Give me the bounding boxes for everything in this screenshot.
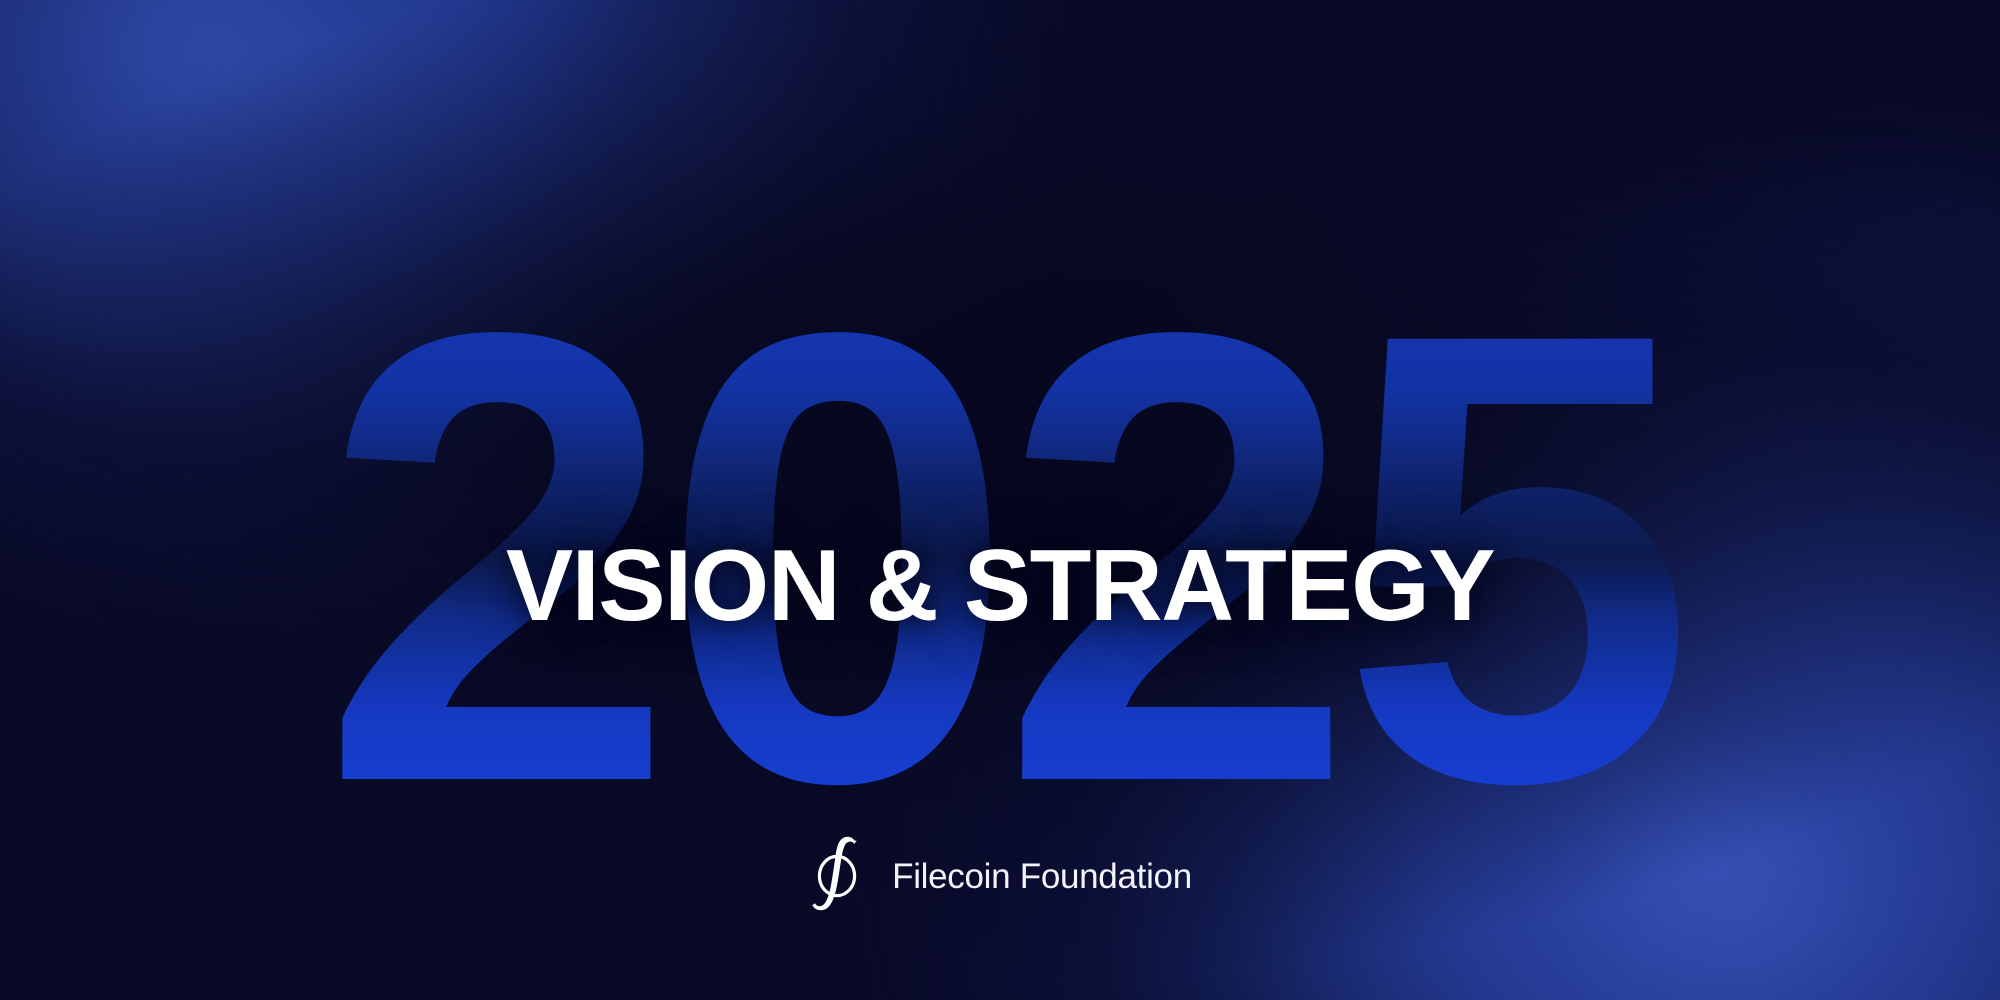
poster-canvas: 2025 VISION & STRATEGY Filecoin Foundati… xyxy=(0,0,2000,1000)
page-title: VISION & STRATEGY xyxy=(0,536,2000,637)
brand-lockup: Filecoin Foundation xyxy=(0,834,2000,918)
brand-wordmark: Filecoin Foundation xyxy=(892,859,1192,894)
filecoin-f-mark-icon xyxy=(808,834,866,918)
